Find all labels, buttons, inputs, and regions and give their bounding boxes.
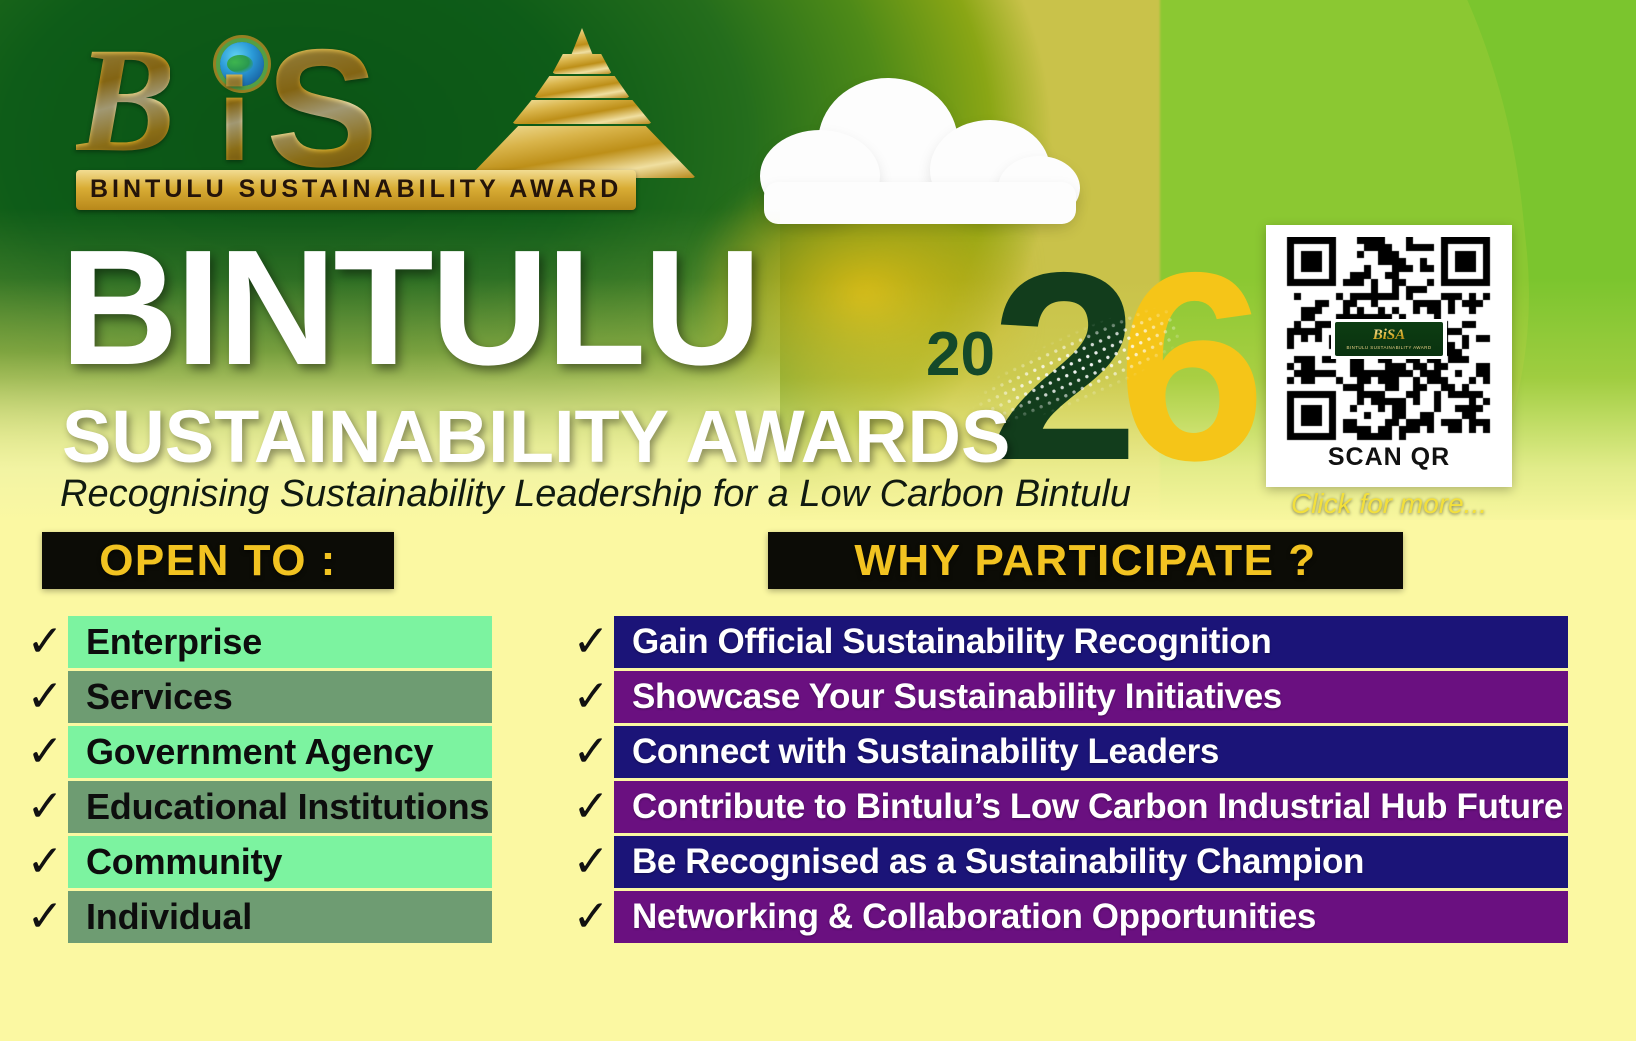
- check-icon: ✓: [568, 620, 614, 664]
- check-icon: ✓: [22, 730, 68, 774]
- open-to-item-label: Services: [68, 671, 492, 723]
- pagoda-a-icon: [468, 28, 698, 178]
- logo-letter-b: B: [76, 14, 170, 186]
- logo-letter-i: i: [218, 52, 251, 188]
- why-item-label: Contribute to Bintulu’s Low Carbon Indus…: [614, 781, 1568, 833]
- cloud-icon: [760, 78, 1080, 218]
- check-icon: ✓: [22, 840, 68, 884]
- list-item: ✓Community: [22, 836, 492, 888]
- check-icon: ✓: [22, 785, 68, 829]
- check-icon: ✓: [568, 675, 614, 719]
- check-icon: ✓: [22, 620, 68, 664]
- qr-center-logo-sub: BINTULU SUSTAINABILITY AWARD: [1347, 345, 1432, 350]
- logo-plate-text: BINTULU SUSTAINABILITY AWARD: [90, 175, 622, 204]
- list-item: ✓Educational Institutions: [22, 781, 492, 833]
- qr-center-logo: BiSA BINTULU SUSTAINABILITY AWARD: [1331, 319, 1447, 359]
- list-item: ✓Government Agency: [22, 726, 492, 778]
- logo-mark: B i S: [70, 18, 680, 168]
- bisa-logo: B i S BINTULU SUSTAINABILITY AWARD: [70, 18, 680, 218]
- page-title: BINTULU: [60, 226, 759, 390]
- why-item-label: Connect with Sustainability Leaders: [614, 726, 1568, 778]
- open-to-item-label: Individual: [68, 891, 492, 943]
- why-item-label: Be Recognised as a Sustainability Champi…: [614, 836, 1568, 888]
- list-item: ✓Gain Official Sustainability Recognitio…: [568, 616, 1568, 668]
- check-icon: ✓: [22, 895, 68, 939]
- check-icon: ✓: [568, 730, 614, 774]
- why-item-label: Networking & Collaboration Opportunities: [614, 891, 1568, 943]
- check-icon: ✓: [568, 785, 614, 829]
- list-item: ✓Enterprise: [22, 616, 492, 668]
- qr-center-logo-text: BiSA: [1373, 328, 1406, 343]
- why-participate-list: ✓Gain Official Sustainability Recognitio…: [568, 616, 1568, 946]
- open-to-item-label: Government Agency: [68, 726, 492, 778]
- list-item: ✓Services: [22, 671, 492, 723]
- open-to-item-label: Community: [68, 836, 492, 888]
- list-item: ✓Showcase Your Sustainability Initiative…: [568, 671, 1568, 723]
- why-item-label: Showcase Your Sustainability Initiatives: [614, 671, 1568, 723]
- logo-plate: BINTULU SUSTAINABILITY AWARD: [76, 170, 636, 210]
- why-participate-heading-text: WHY PARTICIPATE ?: [854, 536, 1316, 586]
- list-item: ✓Connect with Sustainability Leaders: [568, 726, 1568, 778]
- check-icon: ✓: [568, 840, 614, 884]
- open-to-item-label: Enterprise: [68, 616, 492, 668]
- open-to-heading-text: OPEN TO :: [99, 536, 337, 586]
- why-participate-heading: WHY PARTICIPATE ?: [768, 532, 1403, 589]
- check-icon: ✓: [568, 895, 614, 939]
- qr-label: SCAN QR: [1278, 443, 1500, 472]
- qr-code[interactable]: BiSA BINTULU SUSTAINABILITY AWARD: [1278, 237, 1500, 441]
- list-item: ✓Be Recognised as a Sustainability Champ…: [568, 836, 1568, 888]
- list-item: ✓Networking & Collaboration Opportunitie…: [568, 891, 1568, 943]
- hero-banner: 6 2 20 B i S BINTULU SUSTAINABILITY AWAR…: [0, 0, 1636, 528]
- open-to-heading: OPEN TO :: [42, 532, 394, 589]
- qr-click-for-more[interactable]: Click for more...: [1266, 488, 1512, 520]
- poster-root: 6 2 20 B i S BINTULU SUSTAINABILITY AWAR…: [0, 0, 1636, 1041]
- open-to-list: ✓Enterprise✓Services✓Government Agency✓E…: [22, 616, 492, 946]
- tagline: Recognising Sustainability Leadership fo…: [60, 475, 1131, 513]
- open-to-item-label: Educational Institutions: [68, 781, 492, 833]
- page-subtitle: SUSTAINABILITY AWARDS: [62, 400, 1010, 474]
- list-item: ✓Contribute to Bintulu’s Low Carbon Indu…: [568, 781, 1568, 833]
- why-item-label: Gain Official Sustainability Recognition: [614, 616, 1568, 668]
- check-icon: ✓: [22, 675, 68, 719]
- qr-panel[interactable]: BiSA BINTULU SUSTAINABILITY AWARD SCAN Q…: [1266, 225, 1512, 487]
- list-item: ✓Individual: [22, 891, 492, 943]
- body-area: OPEN TO : WHY PARTICIPATE ? ✓Enterprise✓…: [0, 520, 1636, 1041]
